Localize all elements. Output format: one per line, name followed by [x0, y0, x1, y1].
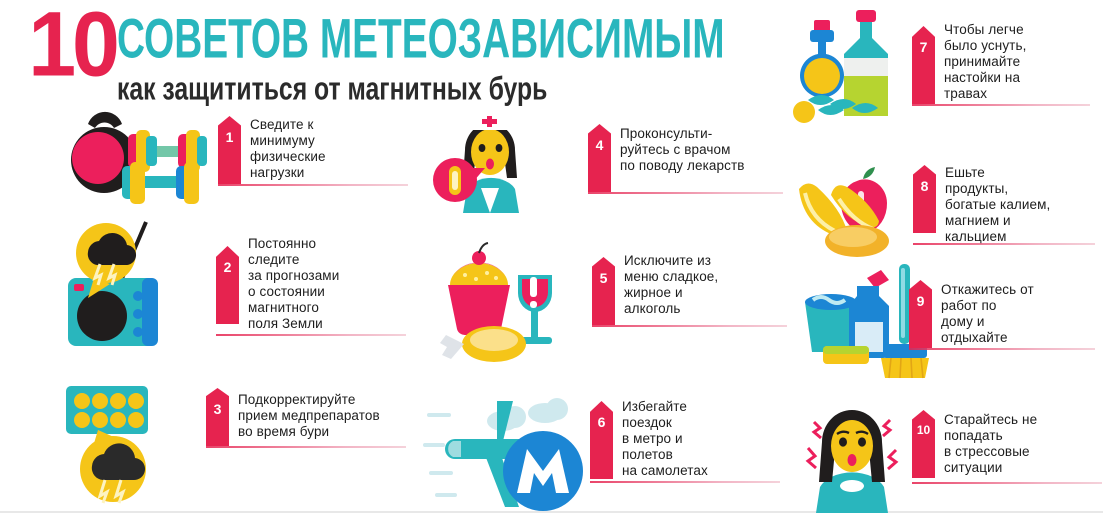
tip-text-8: Ешьте продукты, богатые калием, магнием …	[945, 165, 1050, 245]
tip-text-4: Проконсульти- руйтесь с врачом по поводу…	[620, 126, 745, 174]
tip-card-10: 10 Старайтесь не попадать в стрессовые с…	[800, 398, 1103, 513]
tip-text-1: Сведите к минимуму физические нагрузки	[250, 117, 326, 181]
tip-number-marker-10: 10	[912, 410, 935, 478]
tip-text-2: Постоянно следите за прогнозами о состоя…	[248, 236, 339, 332]
tip-number-marker-3: 3	[206, 388, 229, 446]
tip-rule-5	[592, 325, 787, 327]
tip-rule-1	[218, 184, 408, 186]
tip-text-3: Подкорректируйте прием медпрепаратов во …	[238, 392, 380, 440]
tip-card-5: 5 Исключите из меню сладкое, жирное и ал…	[432, 245, 762, 365]
tip-number-marker-8: 8	[913, 165, 936, 233]
tip-rule-8	[913, 243, 1095, 245]
kettlebell-dumbbells-icon	[58, 108, 208, 200]
tip-number-marker-1: 1	[218, 116, 241, 184]
radio-storm-forecast-icon	[58, 228, 198, 358]
tip-number-marker-9: 9	[909, 280, 932, 348]
page-header: 10 СОВЕТОВ МЕТЕОЗАВИСИМЫМ как защититься…	[22, 6, 762, 106]
cupcake-wine-chicken-icon	[432, 245, 577, 365]
tip-card-6: 6 Избегайте поездок в метро и полетов на…	[425, 395, 755, 513]
tip-rule-7	[912, 104, 1090, 106]
tip-card-8: 8 Ешьте продукты, богатые калием, магние…	[795, 155, 1103, 260]
tip-text-10: Старайтесь не попадать в стрессовые ситу…	[944, 412, 1037, 476]
tip-text-9: Откажитесь от работ по дому и отдыхайте	[941, 282, 1034, 346]
tip-card-1: 1 Сведите к минимуму физические нагрузки	[58, 108, 388, 203]
headline-number: 10	[22, 6, 116, 84]
tip-rule-4	[588, 192, 783, 194]
tip-card-2: 2 Постоянно следите за прогнозами о сост…	[58, 228, 398, 363]
tip-rule-3	[206, 446, 406, 448]
tip-number-marker-6: 6	[590, 401, 613, 479]
tip-text-6: Избегайте поездок в метро и полетов на с…	[622, 399, 708, 479]
airplane-metro-icon	[425, 395, 610, 513]
banana-apple-potato-icon	[795, 155, 920, 257]
tip-number-marker-2: 2	[216, 246, 239, 324]
tip-text-5: Исключите из меню сладкое, жирное и алко…	[624, 253, 718, 317]
page-title: СОВЕТОВ МЕТЕОЗАВИСИМЫМ	[117, 12, 725, 67]
tip-rule-10	[912, 482, 1102, 484]
page-subtitle: как защититься от магнитных бурь	[117, 74, 737, 106]
nurse-doctor-icon	[437, 108, 567, 213]
pill-blister-storm-icon	[58, 382, 188, 507]
stressed-woman-icon	[800, 398, 925, 513]
herbal-tincture-bottles-icon	[790, 8, 920, 120]
tip-card-7: 7 Чтобы легче было уснуть, принимайте на…	[790, 8, 1100, 120]
tip-rule-2	[216, 334, 406, 336]
tip-card-3: 3 Подкорректируйте прием медпрепаратов в…	[58, 382, 398, 507]
tip-number-marker-5: 5	[592, 257, 615, 325]
tip-card-4: 4 Проконсульти- руйтесь с врачом по пово…	[437, 108, 767, 213]
tip-text-7: Чтобы легче было уснуть, принимайте наст…	[944, 22, 1026, 102]
tip-rule-6	[590, 481, 780, 483]
tip-rule-9	[909, 348, 1095, 350]
tip-number-marker-7: 7	[912, 26, 935, 104]
tip-card-9: 9 Откажитесь от работ по дому и отдыхайт…	[795, 258, 1103, 383]
tip-number-marker-4: 4	[588, 124, 611, 192]
